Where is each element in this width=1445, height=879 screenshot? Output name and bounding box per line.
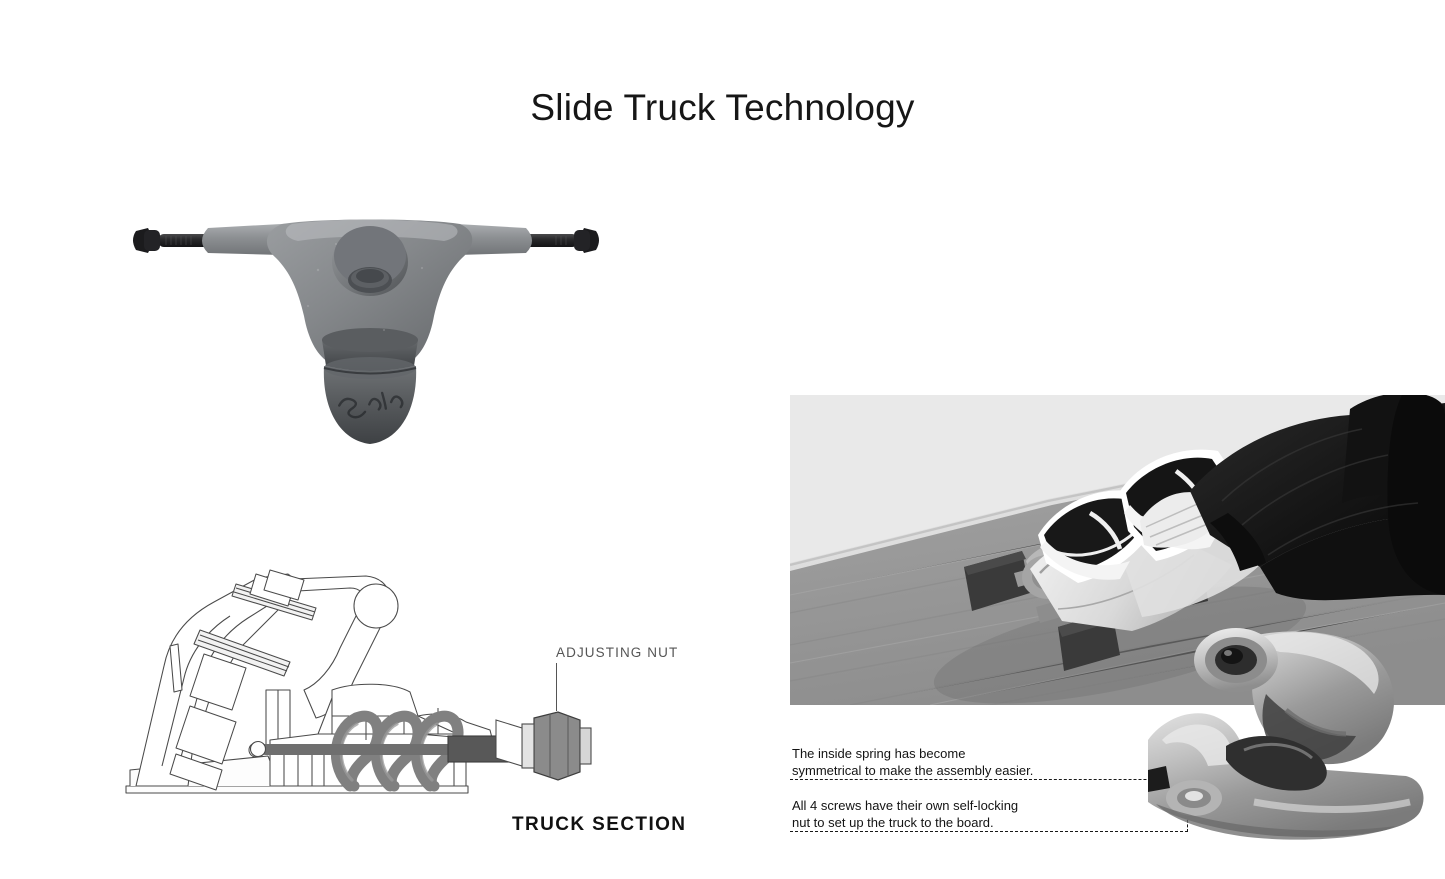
truck-section-drawing-graphic (118, 558, 598, 820)
truck-baseplate-closeup-graphic (1148, 620, 1445, 860)
page-title: Slide Truck Technology (0, 86, 1445, 130)
truck-product-photo (122, 198, 612, 473)
annotation-spring-text: The inside spring has become symmetrical… (792, 745, 1033, 780)
adjusting-nut-label: ADJUSTING NUT (556, 645, 678, 660)
truck-section-caption: TRUCK SECTION (512, 814, 686, 836)
truck-baseplate-closeup (1148, 620, 1445, 860)
page-root: Slide Truck Technology (0, 0, 1445, 879)
truck-section-drawing (118, 558, 598, 820)
annotation-screws-leader (790, 831, 1188, 832)
annotation-screws-text: All 4 screws have their own self-locking… (792, 797, 1018, 832)
truck-product-photo-graphic (122, 198, 612, 473)
adjusting-nut-leader-line (556, 663, 557, 711)
